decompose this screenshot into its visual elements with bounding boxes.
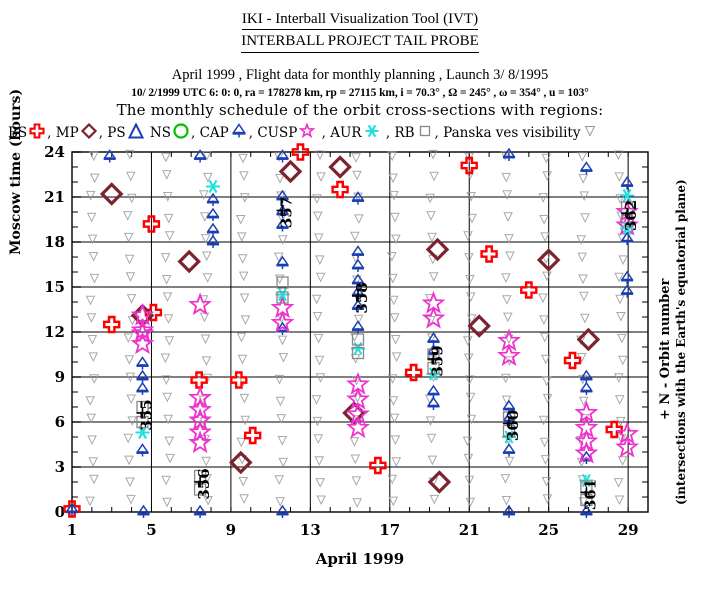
data-point-cusp bbox=[191, 400, 210, 418]
y-tick-label: 3 bbox=[55, 458, 65, 476]
y-tick-label: 0 bbox=[55, 503, 65, 521]
data-point-bs bbox=[370, 458, 385, 473]
asterisk-icon bbox=[364, 123, 380, 139]
data-point-cap bbox=[580, 383, 592, 395]
data-point-cap bbox=[621, 272, 633, 284]
data-point-cusp bbox=[424, 309, 443, 327]
data-point-rb bbox=[137, 417, 148, 428]
data-point-cusp bbox=[133, 334, 152, 352]
data-point-cap bbox=[66, 504, 78, 516]
data-point-cusp bbox=[577, 403, 596, 421]
data-point-mp bbox=[539, 251, 558, 270]
data-point-cap bbox=[428, 398, 440, 410]
square-icon bbox=[417, 123, 433, 139]
data-point-bs bbox=[192, 373, 207, 388]
data-point-cap bbox=[621, 286, 633, 298]
data-point-cap bbox=[352, 193, 364, 205]
data-point-aur bbox=[620, 189, 634, 201]
data-point-cap bbox=[352, 275, 364, 287]
y-tick-label: 12 bbox=[44, 323, 65, 341]
data-point-bs bbox=[406, 365, 421, 380]
data-point-cusp bbox=[499, 331, 518, 349]
series-bs bbox=[65, 145, 622, 517]
data-point-cusp bbox=[191, 295, 210, 313]
data-point-bs bbox=[607, 422, 622, 437]
data-point-cap bbox=[194, 151, 206, 163]
data-point-cusp bbox=[348, 390, 367, 408]
y-tick-label: 9 bbox=[55, 368, 65, 386]
header-block: IKI - Interball Visualization Tool (IVT)… bbox=[0, 0, 720, 120]
data-point-cap bbox=[277, 257, 289, 269]
cross-icon bbox=[29, 123, 45, 139]
data-point-cap bbox=[104, 151, 116, 163]
legend: BS, MP, PS NS, CAP, CUSP , AUR , RB, Pan… bbox=[0, 123, 720, 142]
orbit-number-text: 362 bbox=[622, 200, 640, 231]
data-point-cap bbox=[580, 163, 592, 175]
legend-separator: , bbox=[191, 125, 200, 141]
right-axis-label-1: + N - Orbit number bbox=[658, 279, 673, 420]
orbit-number-label: 357 bbox=[277, 197, 296, 228]
data-point-cusp bbox=[133, 324, 152, 342]
data-point-rb bbox=[277, 292, 288, 303]
data-point-cusp bbox=[191, 433, 210, 451]
legend-label-rb: RB bbox=[394, 125, 414, 141]
data-point-bs bbox=[333, 182, 348, 197]
data-point-cusp bbox=[577, 432, 596, 450]
legend-separator: , bbox=[99, 125, 108, 141]
schedule-caption: The monthly schedule of the orbit cross-… bbox=[0, 101, 720, 120]
data-point-cusp bbox=[348, 418, 367, 436]
data-point-rb bbox=[428, 363, 439, 374]
series-cusp bbox=[133, 202, 637, 462]
data-point-cusp bbox=[499, 346, 518, 364]
data-point-cap bbox=[138, 506, 150, 518]
data-point-mp bbox=[281, 162, 300, 181]
data-point-bs bbox=[231, 373, 246, 388]
data-point-mp bbox=[133, 306, 152, 325]
orbit-number-text: 355 bbox=[138, 399, 156, 430]
data-point-cap bbox=[137, 358, 149, 370]
data-point-mp bbox=[430, 473, 449, 492]
orbit-number-label: 355 bbox=[137, 399, 156, 430]
data-point-cusp bbox=[191, 423, 210, 441]
data-point-bs bbox=[293, 145, 308, 160]
data-point-cusp bbox=[577, 444, 596, 462]
orbit-number-label: 360 bbox=[503, 410, 522, 441]
data-point-cusp bbox=[133, 321, 152, 339]
data-point-aur bbox=[136, 426, 150, 438]
data-point-bs bbox=[65, 502, 80, 517]
star-icon bbox=[299, 123, 315, 139]
data-point-cap bbox=[580, 452, 592, 464]
series-aur bbox=[136, 180, 635, 486]
orbit-number-label: 356 bbox=[194, 468, 213, 499]
orbit-number-text: 359 bbox=[428, 345, 446, 376]
x-tick-label: 9 bbox=[226, 521, 236, 539]
data-point-cusp bbox=[348, 375, 367, 393]
data-point-cap bbox=[137, 371, 149, 383]
data-point-cap bbox=[503, 445, 515, 457]
data-point-cusp bbox=[348, 405, 367, 423]
data-point-bs bbox=[146, 305, 161, 320]
orbit-number-text: 358 bbox=[353, 282, 371, 313]
right-axis-label-2: (intersections with the Earth's equatori… bbox=[674, 179, 688, 505]
data-point-rb bbox=[195, 471, 206, 482]
data-point-cusp bbox=[618, 202, 637, 220]
data-point-cap bbox=[352, 322, 364, 334]
data-point-cap bbox=[277, 191, 289, 203]
triangle-icon bbox=[128, 123, 144, 139]
circle-icon bbox=[173, 123, 189, 139]
data-point-rb bbox=[353, 334, 364, 345]
data-point-cap bbox=[352, 301, 364, 313]
legend-label-cap: CAP bbox=[200, 125, 229, 141]
orbit-number-text: 356 bbox=[195, 468, 213, 499]
flight-data-line: April 1999 , Flight data for monthly pla… bbox=[0, 66, 720, 84]
data-point-cap bbox=[277, 323, 289, 335]
plot-frame bbox=[72, 152, 648, 512]
orbit-number-label: 361 bbox=[580, 479, 599, 510]
data-point-aur bbox=[206, 180, 220, 192]
data-point-rb bbox=[581, 481, 592, 492]
data-point-rb bbox=[277, 277, 288, 288]
data-point-cusp bbox=[577, 418, 596, 436]
data-point-mp bbox=[231, 453, 250, 472]
legend-separator: , bbox=[317, 125, 330, 141]
data-point-cap bbox=[621, 178, 633, 190]
legend-label-mp: MP bbox=[56, 125, 79, 141]
data-point-cusp bbox=[424, 294, 443, 312]
data-point-mp bbox=[470, 317, 489, 336]
data-point-cap bbox=[503, 413, 515, 425]
data-point-cap bbox=[207, 194, 219, 206]
data-point-cusp bbox=[191, 411, 210, 429]
data-point-cap bbox=[277, 151, 289, 163]
data-point-cusp bbox=[618, 216, 637, 234]
data-point-bs bbox=[565, 353, 580, 368]
data-point-cap bbox=[580, 506, 592, 518]
data-point-cap bbox=[352, 247, 364, 259]
data-point-rb bbox=[353, 348, 364, 359]
data-point-mp bbox=[579, 330, 598, 349]
title-row: IKI - Interball Visualization Tool (IVT) bbox=[0, 0, 720, 30]
x-tick-label: 21 bbox=[459, 521, 480, 539]
data-point-bs bbox=[144, 217, 159, 232]
legend-separator: , bbox=[382, 125, 395, 141]
data-point-cusp bbox=[273, 313, 292, 331]
data-point-aur bbox=[502, 431, 516, 443]
data-point-cap bbox=[277, 506, 289, 518]
panska-ves-visibility-markers bbox=[86, 150, 627, 506]
data-point-aur bbox=[276, 288, 290, 300]
data-point-aur bbox=[351, 342, 365, 354]
data-point-cusp bbox=[618, 424, 637, 442]
data-point-mp bbox=[102, 185, 121, 204]
orbit-number-label: 359 bbox=[427, 345, 446, 376]
data-point-rb bbox=[622, 216, 633, 227]
data-point-cap bbox=[580, 371, 592, 383]
orbit-number-text: 357 bbox=[278, 197, 296, 228]
subtitle-row: INTERBALL PROJECT TAIL PROBE bbox=[0, 30, 720, 53]
data-point-cusp bbox=[273, 298, 292, 316]
data-point-aur bbox=[620, 222, 634, 234]
orbital-parameters-line: 10/ 2/1999 UTC 6: 0: 0, ra = 178278 km, … bbox=[0, 87, 720, 100]
y-axis-label: Moscow time (hours) bbox=[8, 89, 24, 255]
series-cap bbox=[66, 149, 633, 518]
y-tick-label: 15 bbox=[44, 278, 65, 296]
legend-separator: , bbox=[435, 125, 444, 141]
y-tick-label: 6 bbox=[55, 413, 65, 431]
data-point-cusp bbox=[618, 438, 637, 456]
spade-icon bbox=[231, 123, 247, 139]
x-tick-label: 13 bbox=[300, 521, 321, 539]
data-point-rb bbox=[504, 412, 515, 423]
page-title: IKI - Interball Visualization Tool (IVT) bbox=[242, 0, 478, 30]
data-point-cap bbox=[137, 445, 149, 457]
data-point-rb bbox=[581, 495, 592, 506]
orbit-number-label: 362 bbox=[621, 200, 640, 231]
data-point-cap bbox=[428, 386, 440, 398]
data-point-cusp bbox=[133, 306, 152, 324]
data-point-bs bbox=[482, 247, 497, 262]
data-point-rb bbox=[622, 202, 633, 213]
legend-label-ns: NS bbox=[150, 125, 171, 141]
data-point-bs bbox=[521, 283, 536, 298]
legend-label-ps: PS bbox=[107, 125, 125, 141]
data-point-cap bbox=[503, 149, 515, 161]
data-point-cusp bbox=[191, 388, 210, 406]
legend-label-panska-ves-visibility: Panska ves visibility bbox=[443, 125, 580, 141]
data-point-mp bbox=[345, 404, 364, 423]
data-point-cap bbox=[277, 206, 289, 218]
down-triangle-icon bbox=[582, 123, 598, 139]
orbit-number-text: 361 bbox=[581, 479, 599, 510]
data-point-cap bbox=[137, 383, 149, 395]
y-tick-label: 18 bbox=[44, 233, 65, 251]
x-tick-label: 25 bbox=[538, 521, 559, 539]
data-point-rb bbox=[195, 484, 206, 495]
data-point-bs bbox=[104, 317, 119, 332]
data-point-cap bbox=[207, 209, 219, 221]
data-point-cap bbox=[352, 260, 364, 272]
legend-label-aur: AUR bbox=[330, 125, 361, 141]
orbit-number-text: 360 bbox=[504, 410, 522, 441]
series-mp bbox=[102, 158, 598, 492]
data-point-mp bbox=[331, 158, 350, 177]
data-point-rb bbox=[137, 402, 148, 413]
diamond-icon bbox=[81, 123, 97, 139]
data-point-cap bbox=[503, 401, 515, 413]
series-rb bbox=[137, 202, 633, 506]
data-point-cap bbox=[194, 506, 206, 518]
data-point-cap bbox=[428, 346, 440, 358]
x-axis-label: April 1999 bbox=[0, 550, 720, 568]
data-point-aur bbox=[579, 474, 593, 486]
orbit-number-label: 358 bbox=[352, 282, 371, 313]
data-point-cap bbox=[207, 224, 219, 236]
data-point-cap bbox=[207, 236, 219, 248]
data-point-cap bbox=[352, 287, 364, 299]
x-tick-label: 17 bbox=[379, 521, 400, 539]
data-point-mp bbox=[180, 252, 199, 271]
data-point-rb bbox=[428, 349, 439, 360]
data-point-mp bbox=[428, 240, 447, 259]
page-subtitle: INTERBALL PROJECT TAIL PROBE bbox=[241, 32, 479, 53]
data-point-cap bbox=[503, 506, 515, 518]
data-point-rb bbox=[504, 426, 515, 437]
data-point-cap bbox=[428, 334, 440, 346]
y-tick-label: 24 bbox=[44, 143, 65, 161]
x-tick-label: 5 bbox=[146, 521, 156, 539]
data-point-aur bbox=[427, 368, 441, 380]
x-tick-label: 29 bbox=[618, 521, 639, 539]
data-point-cap bbox=[621, 233, 633, 245]
x-tick-label: 1 bbox=[67, 521, 77, 539]
data-point-bs bbox=[462, 158, 477, 173]
y-tick-label: 21 bbox=[44, 188, 65, 206]
legend-separator: , bbox=[47, 125, 56, 141]
data-point-cap bbox=[277, 220, 289, 232]
data-point-bs bbox=[245, 428, 260, 443]
legend-label-cusp: CUSP bbox=[257, 125, 297, 141]
